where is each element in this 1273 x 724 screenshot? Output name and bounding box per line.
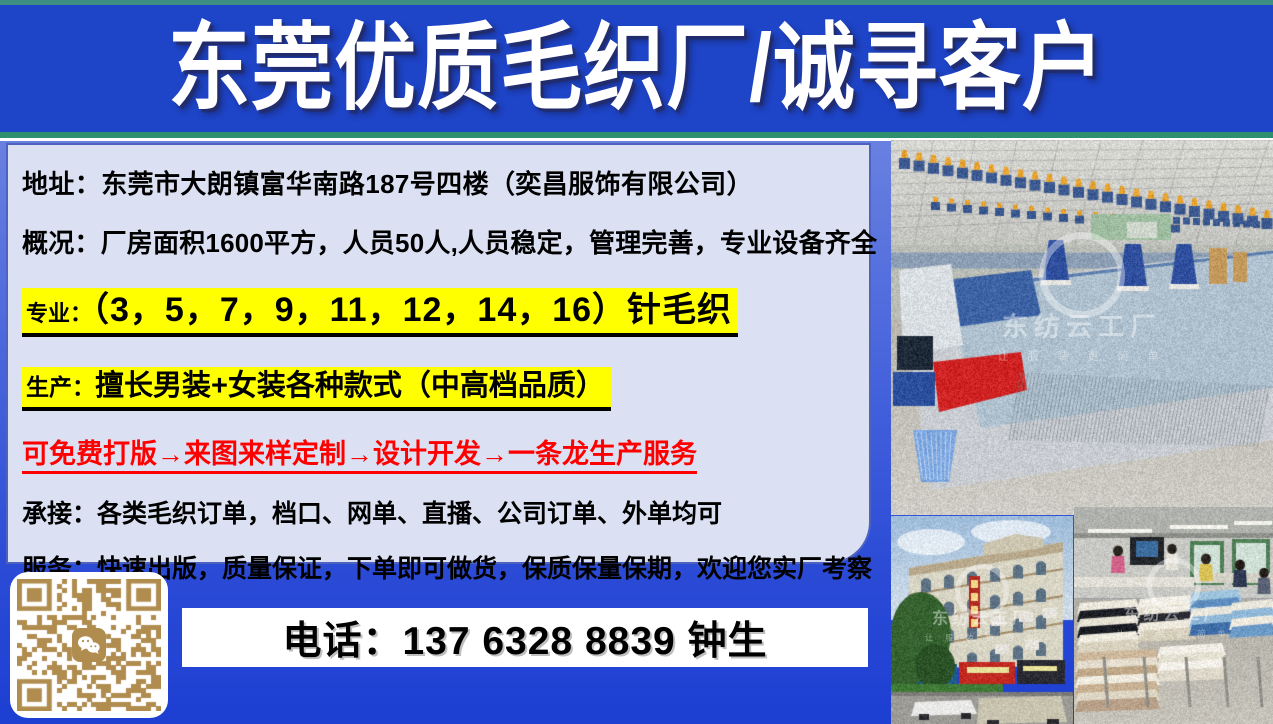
- wechat-logo-icon: [72, 628, 106, 662]
- address-label: 地址：: [22, 169, 101, 199]
- address-value: 东莞市大朗镇富华南路187号四楼（奕昌服饰有限公司）: [101, 169, 753, 199]
- phone-number-text: 电话：137 6328 8839 钟生: [282, 610, 767, 666]
- factory-building-photo: 东纺云工厂 让 服 装 更 简 单: [891, 516, 1073, 724]
- phone-banner: 电话：137 6328 8839 钟生: [182, 608, 868, 667]
- specialty-label: 专业：: [26, 301, 92, 326]
- page-title: 东莞优质毛织厂/诚寻客户: [0, 0, 1273, 142]
- factory-building-canvas: [891, 516, 1073, 724]
- production-value: 擅长男装+女装各种款式（中高档品质）: [95, 370, 605, 402]
- knitting-machines-canvas: [891, 140, 1273, 515]
- info-panel: 地址：东莞市大朗镇富华南路187号四楼（奕昌服饰有限公司） 概况：厂房面积160…: [6, 143, 871, 564]
- production-label: 生产：: [26, 374, 95, 400]
- accept-label: 承接：: [22, 500, 97, 528]
- address-row: 地址：东莞市大朗镇富华南路187号四楼（奕昌服饰有限公司）: [22, 171, 855, 197]
- specialty-row: 专业：（3，5，7，9，11，12，14，16）针毛织: [22, 288, 855, 337]
- overview-value: 厂房面积1600平方，人员50人,人员稳定，管理完善，专业设备齐全: [101, 228, 878, 258]
- service-value: 快速出版，质量保证，下单即可做货，保质保量保期，欢迎您实厂考察: [97, 555, 872, 583]
- specialty-value: （3，5，7，9，11，12，14，16）针毛织: [92, 291, 732, 329]
- accept-value: 各类毛织订单，档口、网单、直播、公司订单、外单均可: [97, 500, 722, 528]
- wechat-qr-code[interactable]: [10, 572, 168, 718]
- accept-row: 承接：各类毛织订单，档口、网单、直播、公司订单、外单均可: [22, 502, 855, 527]
- poster-root: 东莞优质毛织厂/诚寻客户 地址：东莞市大朗镇富华南路187号四楼（奕昌服饰有限公…: [0, 0, 1273, 724]
- production-highlight: 生产：擅长男装+女装各种款式（中高档品质）: [22, 367, 611, 411]
- free-service-row: 可免费打版→来图来样定制→设计开发→一条龙生产服务: [22, 441, 697, 474]
- overview-row: 概况：厂房面积1600平方，人员50人,人员稳定，管理完善，专业设备齐全: [22, 230, 855, 256]
- garment-workshop-canvas: [1074, 507, 1273, 724]
- production-row: 生产：擅长男装+女装各种款式（中高档品质）: [22, 367, 855, 411]
- garment-workshop-photo: 东纺云工厂 让 服 装 更 简 单: [1074, 507, 1273, 724]
- specialty-highlight: 专业：（3，5，7，9，11，12，14，16）针毛织: [22, 288, 738, 337]
- overview-label: 概况：: [22, 228, 101, 258]
- knitting-machines-photo: 东纺云工厂 让 服 装 更 简 单: [891, 140, 1273, 515]
